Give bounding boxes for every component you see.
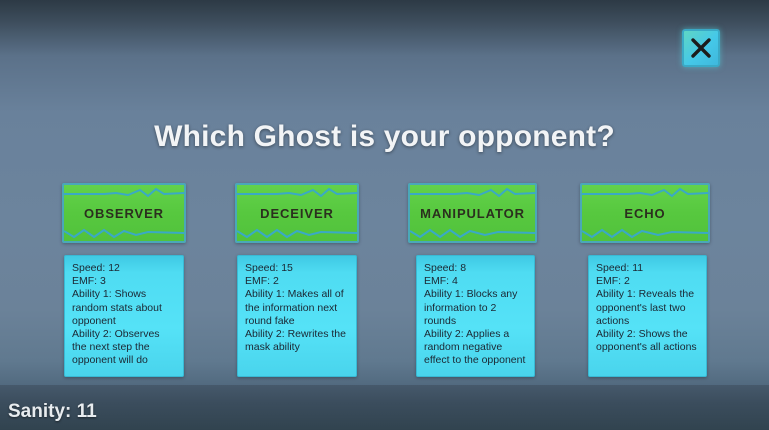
page-title: Which Ghost is your opponent? — [0, 120, 769, 154]
card-name: DECEIVER — [260, 206, 334, 221]
ghost-card-echo[interactable]: ECHO Speed: 11 EMF: 2 Ability 1: Reveals… — [580, 183, 710, 243]
ability-one: Ability 1: Reveals the opponent's last t… — [596, 288, 699, 328]
card-banner: MANIPULATOR — [408, 183, 537, 243]
wave-line-top-icon — [410, 187, 535, 199]
sanity-readout: Sanity: 11 — [8, 401, 97, 423]
stat-speed: Speed: 15 — [245, 262, 349, 275]
card-name: MANIPULATOR — [420, 206, 525, 221]
card-name: ECHO — [624, 206, 665, 221]
close-x-icon — [689, 36, 713, 60]
card-stats: Speed: 11 EMF: 2 Ability 1: Reveals the … — [588, 255, 707, 377]
wave-line-top-icon — [582, 187, 708, 199]
wave-line-bottom-icon — [64, 227, 184, 239]
stat-emf: EMF: 2 — [245, 275, 349, 288]
ability-one: Ability 1: Makes all of the information … — [245, 288, 349, 328]
stat-emf: EMF: 3 — [72, 275, 176, 288]
wave-line-top-icon — [237, 187, 357, 199]
wave-line-bottom-icon — [582, 227, 708, 239]
card-banner: OBSERVER — [62, 183, 186, 243]
ghost-card-manipulator[interactable]: MANIPULATOR Speed: 8 EMF: 4 Ability 1: B… — [408, 183, 537, 243]
ability-one: Ability 1: Shows random stats about oppo… — [72, 288, 176, 328]
card-banner: ECHO — [580, 183, 710, 243]
card-name: OBSERVER — [84, 206, 164, 221]
card-stats: Speed: 12 EMF: 3 Ability 1: Shows random… — [64, 255, 184, 377]
card-stats: Speed: 15 EMF: 2 Ability 1: Makes all of… — [237, 255, 357, 377]
stat-speed: Speed: 12 — [72, 262, 176, 275]
ghost-card-deceiver[interactable]: DECEIVER Speed: 15 EMF: 2 Ability 1: Mak… — [235, 183, 359, 243]
close-button[interactable] — [682, 29, 720, 67]
ability-two: Ability 2: Rewrites the mask ability — [245, 328, 349, 354]
stat-speed: Speed: 8 — [424, 262, 527, 275]
card-stats: Speed: 8 EMF: 4 Ability 1: Blocks any in… — [416, 255, 535, 377]
stat-speed: Speed: 11 — [596, 262, 699, 275]
ability-two: Ability 2: Shows the opponent's all acti… — [596, 328, 699, 354]
ability-two: Ability 2: Applies a random negative eff… — [424, 328, 527, 368]
wave-line-bottom-icon — [237, 227, 357, 239]
ghost-card-observer[interactable]: OBSERVER Speed: 12 EMF: 3 Ability 1: Sho… — [62, 183, 186, 243]
stat-emf: EMF: 4 — [424, 275, 527, 288]
wave-line-top-icon — [64, 187, 184, 199]
wave-line-bottom-icon — [410, 227, 535, 239]
ability-two: Ability 2: Observes the next step the op… — [72, 328, 176, 368]
ability-one: Ability 1: Blocks any information to 2 r… — [424, 288, 527, 328]
stat-emf: EMF: 2 — [596, 275, 699, 288]
card-banner: DECEIVER — [235, 183, 359, 243]
status-bar: Sanity: 11 — [0, 385, 769, 430]
